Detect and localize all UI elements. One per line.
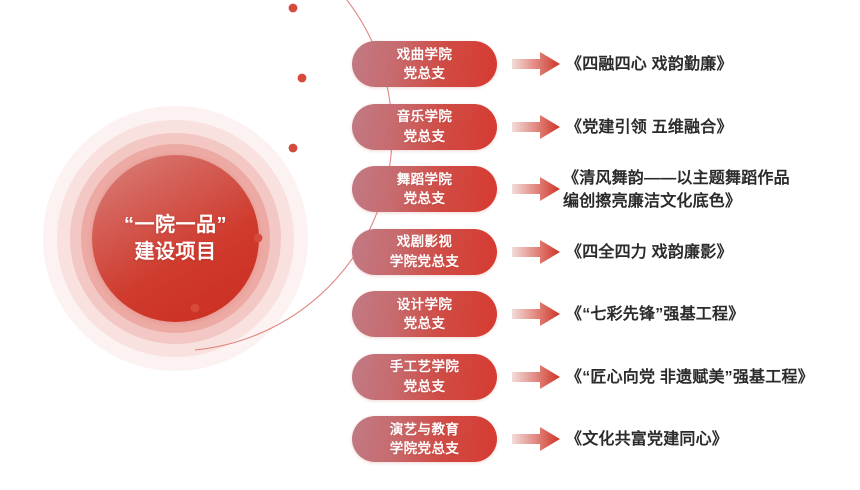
- department-pill[interactable]: 戏曲学院党总支: [352, 41, 497, 87]
- pill-line: 音乐学院: [397, 107, 453, 126]
- pill-line: 戏剧影视: [390, 232, 460, 251]
- program-title-line: 《文化共富党建同心》: [566, 428, 856, 451]
- program-title: 《“七彩先锋”强基工程》: [566, 303, 856, 326]
- program-title-line: 《党建引领 五维融合》: [566, 116, 856, 139]
- pill-line: 设计学院: [397, 295, 453, 314]
- department-pill-label: 舞蹈学院党总支: [397, 170, 453, 208]
- department-pill[interactable]: 设计学院党总支: [352, 291, 497, 337]
- pill-line: 党总支: [397, 314, 453, 333]
- right-arrow-icon: [512, 176, 560, 202]
- pill-line: 党总支: [397, 64, 453, 83]
- pill-line: 演艺与教育: [390, 420, 460, 439]
- program-title: 《四全四力 戏韵廉影》: [566, 241, 856, 264]
- program-title-line: 《四全四力 戏韵廉影》: [566, 241, 856, 264]
- pill-line: 学院党总支: [390, 252, 460, 271]
- department-pill-label: 手工艺学院党总支: [390, 357, 460, 395]
- department-pill-label: 音乐学院党总支: [397, 107, 453, 145]
- department-pill[interactable]: 手工艺学院党总支: [352, 354, 497, 400]
- program-title-line: 《清风舞韵——以主题舞蹈作品: [563, 167, 853, 190]
- pill-line: 手工艺学院: [390, 357, 460, 376]
- program-title: 《“匠心向党 非遗赋美”强基工程》: [566, 366, 856, 389]
- program-title: 《文化共富党建同心》: [566, 428, 856, 451]
- program-title: 《党建引领 五维融合》: [566, 116, 856, 139]
- pill-line: 学院党总支: [390, 439, 460, 458]
- department-pill-label: 戏曲学院党总支: [397, 45, 453, 83]
- slide-canvas: “一院一品” 建设项目 戏曲学院党总支《四融四心 戏韵勤廉》音乐学院党总支《党建…: [0, 0, 860, 490]
- department-pill-label: 设计学院党总支: [397, 295, 453, 333]
- right-arrow-icon: [512, 426, 560, 452]
- program-title: 《清风舞韵——以主题舞蹈作品编创擦亮廉洁文化底色》: [563, 167, 853, 213]
- program-title-line: 《四融四心 戏韵勤廉》: [566, 53, 856, 76]
- program-title-line: 《“匠心向党 非遗赋美”强基工程》: [566, 366, 856, 389]
- program-title: 《四融四心 戏韵勤廉》: [566, 53, 856, 76]
- pill-line: 党总支: [390, 377, 460, 396]
- right-arrow-icon: [512, 301, 560, 327]
- department-pill-label: 演艺与教育学院党总支: [390, 420, 460, 458]
- pill-line: 戏曲学院: [397, 45, 453, 64]
- pill-line: 党总支: [397, 189, 453, 208]
- pill-line: 舞蹈学院: [397, 170, 453, 189]
- program-title-line: 编创擦亮廉洁文化底色》: [563, 190, 853, 213]
- department-pill[interactable]: 音乐学院党总支: [352, 104, 497, 150]
- orbit-arc-decoration: [0, 0, 370, 358]
- pill-line: 党总支: [397, 127, 453, 146]
- department-pill-label: 戏剧影视学院党总支: [390, 232, 460, 270]
- department-pill[interactable]: 舞蹈学院党总支: [352, 166, 497, 212]
- department-pill[interactable]: 演艺与教育学院党总支: [352, 416, 497, 462]
- department-pill[interactable]: 戏剧影视学院党总支: [352, 229, 497, 275]
- program-title-line: 《“七彩先锋”强基工程》: [566, 303, 856, 326]
- right-arrow-icon: [512, 239, 560, 265]
- right-arrow-icon: [512, 114, 560, 140]
- right-arrow-icon: [512, 51, 560, 77]
- right-arrow-icon: [512, 364, 560, 390]
